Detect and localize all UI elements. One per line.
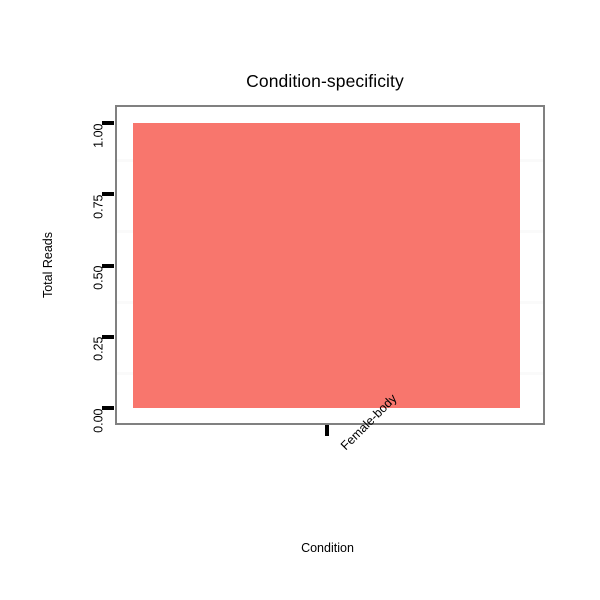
chart-title: Condition-specificity [0,70,600,92]
chart-canvas: Condition-specificity Total Reads 0.000.… [0,0,600,600]
plot-panel [115,105,545,425]
x-tick-label: Female-body [338,443,348,453]
y-tick-label: 1.00 [93,123,106,243]
bar[interactable] [133,123,520,408]
plot-area [117,107,543,423]
x-tick-mark [325,425,329,436]
x-axis-title: Condition [0,541,600,555]
y-axis-title: Total Reads [41,165,55,365]
